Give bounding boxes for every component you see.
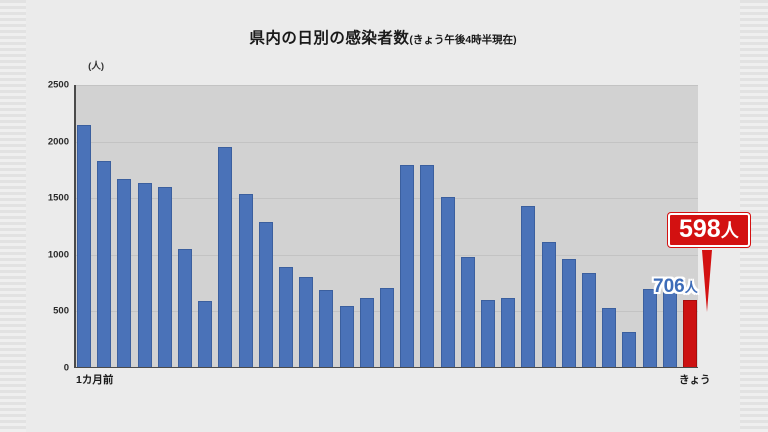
yesterday-label: 706人: [653, 277, 698, 296]
y-axis-tick-label: 1000: [48, 249, 69, 260]
bar: [360, 298, 374, 368]
bar: [279, 267, 293, 368]
x-axis-label-right: きょう: [679, 372, 711, 387]
y-axis-tick-label: 2500: [48, 80, 69, 91]
bar: [117, 179, 131, 368]
x-axis-label-left: 1カ月前: [76, 372, 113, 387]
bar: [582, 273, 596, 368]
callout-stem: [702, 250, 712, 312]
bar-series: [74, 85, 698, 368]
bar: [77, 125, 91, 368]
bar: [319, 290, 333, 368]
today-callout: 598人: [668, 213, 750, 247]
chart-title-main: 県内の日別の感染者数: [249, 30, 409, 47]
bar: [602, 308, 616, 368]
bar: [158, 187, 172, 368]
y-axis-tick-label: 1500: [48, 193, 69, 204]
bar: [218, 147, 232, 368]
bar: [178, 249, 192, 368]
today-callout-text: 598人: [679, 215, 739, 243]
yesterday-unit: 人: [685, 280, 698, 295]
bar: [259, 222, 273, 368]
bar: [521, 206, 535, 368]
bar: [400, 165, 414, 368]
y-axis-line: [74, 85, 76, 368]
bar: [239, 194, 253, 368]
left-stripe-margin: [0, 0, 26, 432]
bar: [481, 300, 495, 368]
bar: [97, 161, 111, 368]
bar: [380, 288, 394, 368]
x-axis-line: [74, 367, 698, 369]
chart-title-sub: (きょう午後4時半現在): [409, 34, 516, 46]
y-axis-tick-label: 500: [53, 306, 69, 317]
y-axis-unit-label: (人): [44, 58, 104, 72]
bar: [340, 306, 354, 368]
bar: [622, 332, 636, 368]
bar: [562, 259, 576, 368]
y-axis-tick-label: 2000: [48, 136, 69, 147]
chart-card: 県内の日別の感染者数(きょう午後4時半現在) (人) 0500100015002…: [26, 0, 740, 432]
broadcast-chart-screen: 県内の日別の感染者数(きょう午後4時半現在) (人) 0500100015002…: [0, 0, 768, 432]
bar: [299, 277, 313, 368]
chart-title: 県内の日別の感染者数(きょう午後4時半現在): [26, 26, 740, 48]
bar: [643, 289, 657, 368]
bar: [420, 165, 434, 368]
gridline: [74, 368, 698, 369]
bar: [461, 257, 475, 368]
bar: [198, 301, 212, 368]
bar: [441, 197, 455, 368]
bar: [501, 298, 515, 368]
today-unit: 人: [721, 221, 739, 241]
plot-area: 05001000150020002500: [74, 85, 698, 368]
bar: [542, 242, 556, 368]
yesterday-value: 706: [653, 276, 685, 297]
bar: [138, 183, 152, 368]
y-axis-tick-label: 0: [64, 363, 69, 374]
bar: [683, 300, 697, 368]
bar: [663, 288, 677, 368]
today-value: 598: [679, 215, 721, 243]
